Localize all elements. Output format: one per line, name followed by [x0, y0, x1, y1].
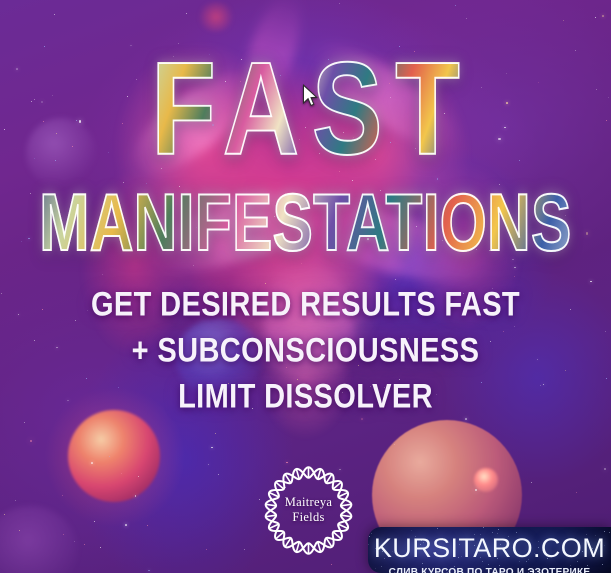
watermark-site-name: KURSITARO.COM [368, 527, 611, 562]
poster-image: FAST MANIFESTATIONS GET DESIRED RESULTS … [0, 0, 611, 573]
brand-name-line-1: Maitreya [261, 495, 356, 510]
subtitle-line-3: LIMIT DISSOLVER [37, 372, 575, 420]
brand-logo: Maitreya Fields [261, 463, 356, 558]
subtitle-line-2: + SUBCONSCIOUSNESS [37, 326, 575, 374]
watermark-tagline: СЛИВ КУРСОВ ПО ТАРО И ЭЗОТЕРИКЕ [373, 562, 606, 573]
subtitle-block: GET DESIRED RESULTS FAST + SUBCONSCIOUSN… [0, 281, 611, 420]
headline-block: FAST MANIFESTATIONS [0, 0, 611, 236]
brand-name-line-2: Fields [261, 510, 356, 525]
title-manifestations: MANIFESTATIONS [39, 142, 571, 264]
watermark-banner: KURSITARO.COM СЛИВ КУРСОВ ПО ТАРО И ЭЗОТ… [368, 527, 611, 573]
planet-bottom-left [0, 506, 78, 573]
brand-logo-text: Maitreya Fields [261, 495, 356, 526]
planet-left-coral [68, 410, 160, 502]
planet-right-small [474, 468, 498, 492]
subtitle-line-1: GET DESIRED RESULTS FAST [37, 280, 575, 328]
